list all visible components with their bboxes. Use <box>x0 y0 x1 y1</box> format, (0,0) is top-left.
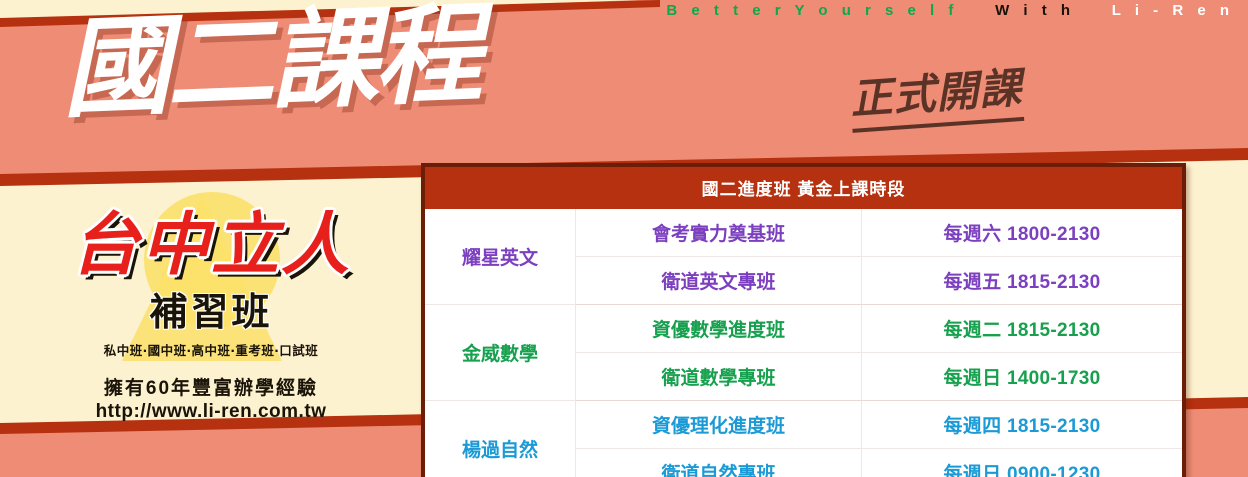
time-cell: 每週二 1815-2130 <box>862 305 1183 353</box>
time-cell: 每週四 1815-2130 <box>862 401 1183 449</box>
subject-cell: 耀星英文 <box>425 209 576 305</box>
promo-banner: B e t t e r Y o u r s e l f W i t h L i … <box>0 0 1248 477</box>
logo-departments: 私中班‧國中班‧高中班‧重考班‧口試班 <box>18 340 404 359</box>
table-row: 耀星英文會考實力奠基班每週六 1800-2130 <box>425 209 1182 257</box>
subject-cell: 金威數學 <box>425 305 576 401</box>
course-cell: 會考實力奠基班 <box>576 209 862 257</box>
course-cell: 資優理化進度班 <box>576 401 862 449</box>
page-subtitle: 正式開課 <box>848 54 1024 133</box>
course-cell: 衛道自然專班 <box>576 449 862 477</box>
logo-school-type: 補習班 <box>18 281 404 336</box>
logo-school-name: 台中立人 <box>18 212 404 279</box>
subject-cell: 楊過自然 <box>425 401 576 477</box>
schedule-panel: 國二進度班 黃金上課時段 耀星英文會考實力奠基班每週六 1800-2130衛道英… <box>421 163 1186 477</box>
tagline: B e t t e r Y o u r s e l f W i t h L i … <box>666 2 1234 19</box>
logo-experience: 擁有60年豐富辦學經驗 <box>18 373 404 400</box>
table-row: 金威數學資優數學進度班每週二 1815-2130 <box>425 305 1182 353</box>
course-cell: 衛道英文專班 <box>576 257 862 305</box>
time-cell: 每週日 1400-1730 <box>862 353 1183 401</box>
time-cell: 每週六 1800-2130 <box>862 209 1183 257</box>
table-row: 楊過自然資優理化進度班每週四 1815-2130 <box>425 401 1182 449</box>
tagline-part-li-ren: L i - R e n <box>1112 2 1234 19</box>
page-title: 國二課程 <box>60 0 480 124</box>
schedule-table: 耀星英文會考實力奠基班每週六 1800-2130衛道英文專班每週五 1815-2… <box>425 209 1182 477</box>
course-cell: 衛道數學專班 <box>576 353 862 401</box>
logo-website-url[interactable]: http://www.li-ren.com.tw <box>18 401 404 423</box>
tagline-part-better-yourself: B e t t e r Y o u r s e l f <box>666 2 958 19</box>
logo: 台中立人 補習班 私中班‧國中班‧高中班‧重考班‧口試班 擁有60年豐富辦學經驗… <box>18 196 404 426</box>
course-cell: 資優數學進度班 <box>576 305 862 353</box>
tagline-part-with: W i t h <box>995 2 1075 19</box>
schedule-header-title: 國二進度班 黃金上課時段 <box>425 167 1182 209</box>
time-cell: 每週五 1815-2130 <box>862 257 1183 305</box>
time-cell: 每週日 0900-1230 <box>862 449 1183 477</box>
